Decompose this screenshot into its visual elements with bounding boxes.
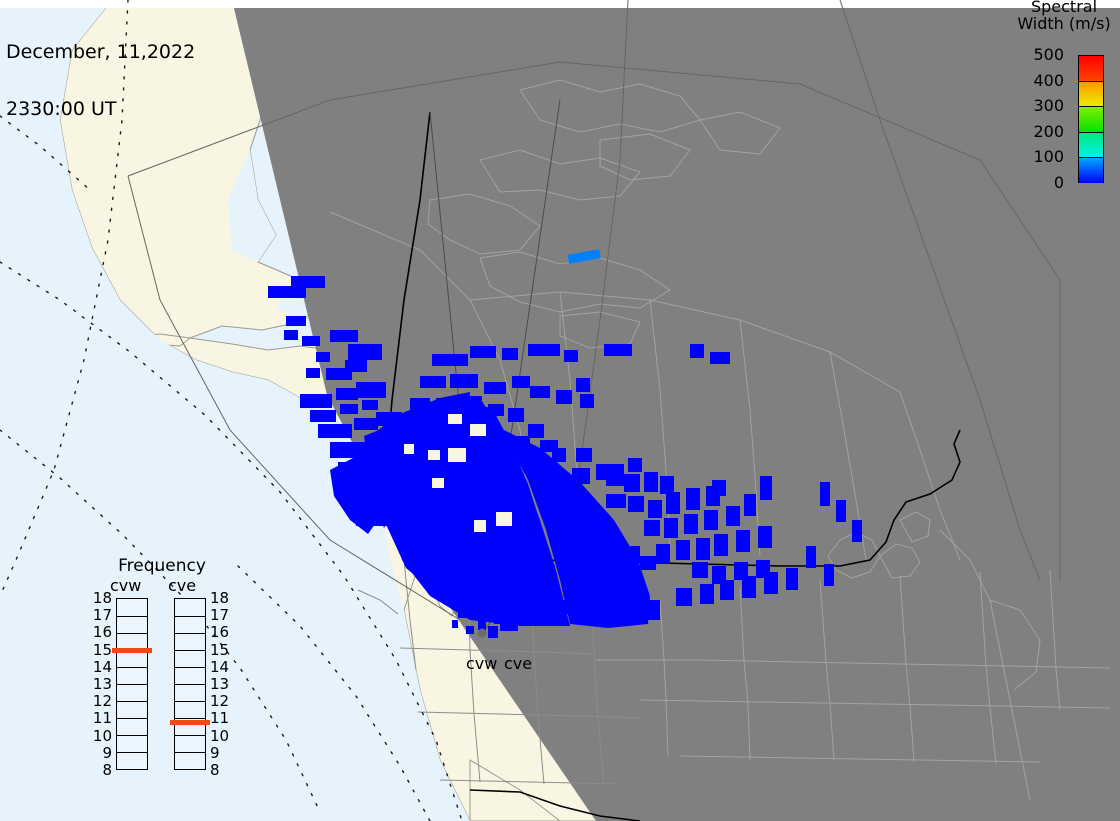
colorbar-tick-400: 400 — [1033, 73, 1064, 89]
frequency-tick-cvw-15: 15 — [90, 643, 112, 658]
frequency-gridline-cve-14 — [175, 667, 205, 668]
frequency-tick-cvw-17: 17 — [90, 608, 112, 623]
frequency-tick-cvw-13: 13 — [90, 677, 112, 692]
frequency-tick-cvw-10: 10 — [90, 729, 112, 744]
frequency-scale-cvw[interactable] — [116, 598, 148, 770]
colorbar-title-line1: Spectral — [1008, 0, 1120, 15]
colorbar: Spectral Width (m/s) 5004003002001000 — [1008, 0, 1120, 200]
colorbar-band-300-400 — [1079, 81, 1103, 107]
frequency-tick-cvw-14: 14 — [90, 660, 112, 675]
colorbar-gradient-box[interactable] — [1078, 55, 1104, 183]
frequency-tick-cve-18: 18 — [210, 591, 234, 606]
frequency-gridline-cve-15 — [175, 650, 205, 651]
frequency-gridline-cvw-10 — [117, 735, 147, 736]
frequency-marker-cve — [170, 720, 210, 725]
frequency-marker-cvw — [112, 648, 152, 653]
timestamp-date: December, 11,2022 — [6, 43, 195, 62]
frequency-tick-cve-14: 14 — [210, 660, 234, 675]
frequency-tick-cvw-18: 18 — [90, 591, 112, 606]
frequency-gridline-cvw-14 — [117, 667, 147, 668]
frequency-gridline-cvw-9 — [117, 752, 147, 753]
colorbar-tick-labels: 5004003002001000 — [1016, 40, 1072, 200]
colorbar-title: Spectral Width (m/s) — [1008, 0, 1120, 32]
frequency-gridline-cve-13 — [175, 684, 205, 685]
colorbar-title-line2: Width (m/s) — [1008, 15, 1120, 32]
frequency-gridline-cve-10 — [175, 735, 205, 736]
radar-site-label-cve: cve — [504, 654, 532, 673]
radar-map-screenshot: December, 11,2022 2330:00 UT Spectral Wi… — [0, 0, 1120, 821]
colorbar-tick-300: 300 — [1033, 98, 1064, 114]
frequency-tick-cvw-12: 12 — [90, 694, 112, 709]
frequency-tick-cve-17: 17 — [210, 608, 234, 623]
frequency-tick-cve-12: 12 — [210, 694, 234, 709]
frequency-gridline-cvw-11 — [117, 718, 147, 719]
frequency-gridline-cve-9 — [175, 752, 205, 753]
frequency-gridline-cvw-13 — [117, 684, 147, 685]
colorbar-band-400-500 — [1079, 56, 1103, 81]
frequency-title: Frequency — [82, 556, 242, 576]
frequency-gridline-cve-16 — [175, 633, 205, 634]
frequency-gridline-cvw-17 — [117, 616, 147, 617]
colorbar-tick-0: 0 — [1054, 175, 1064, 191]
frequency-tick-cvw-11: 11 — [90, 711, 112, 726]
colorbar-tick-500: 500 — [1033, 47, 1064, 63]
frequency-tick-cve-8: 8 — [210, 763, 234, 778]
frequency-gridline-cve-17 — [175, 616, 205, 617]
frequency-tick-cvw-16: 16 — [90, 625, 112, 640]
frequency-gridline-cvw-12 — [117, 701, 147, 702]
frequency-tick-cve-13: 13 — [210, 677, 234, 692]
frequency-tick-cvw-9: 9 — [90, 746, 112, 761]
frequency-column-label-cve: cve — [168, 576, 196, 595]
frequency-tick-cve-10: 10 — [210, 729, 234, 744]
frequency-tick-cve-11: 11 — [210, 711, 234, 726]
frequency-legend: Frequency cvw cve 18171615141312111098 1… — [82, 556, 242, 796]
frequency-tick-cve-15: 15 — [210, 643, 234, 658]
frequency-scale-cve[interactable] — [174, 598, 206, 770]
colorbar-tick-200: 200 — [1033, 124, 1064, 140]
colorbar-tick-100: 100 — [1033, 149, 1064, 165]
frequency-tick-cve-9: 9 — [210, 746, 234, 761]
frequency-column-label-cvw: cvw — [110, 576, 141, 595]
colorbar-band-100-200 — [1079, 132, 1103, 158]
radar-site-label-cvw: cvw — [466, 654, 497, 673]
frequency-tick-cvw-8: 8 — [90, 763, 112, 778]
frequency-tick-cve-16: 16 — [210, 625, 234, 640]
frequency-gridline-cvw-16 — [117, 633, 147, 634]
timestamp-label: December, 11,2022 2330:00 UT — [6, 5, 195, 157]
colorbar-band-0-100 — [1079, 157, 1103, 183]
radar-site-dot — [478, 629, 487, 638]
timestamp-time: 2330:00 UT — [6, 100, 195, 119]
frequency-gridline-cve-12 — [175, 701, 205, 702]
colorbar-band-200-300 — [1079, 106, 1103, 132]
